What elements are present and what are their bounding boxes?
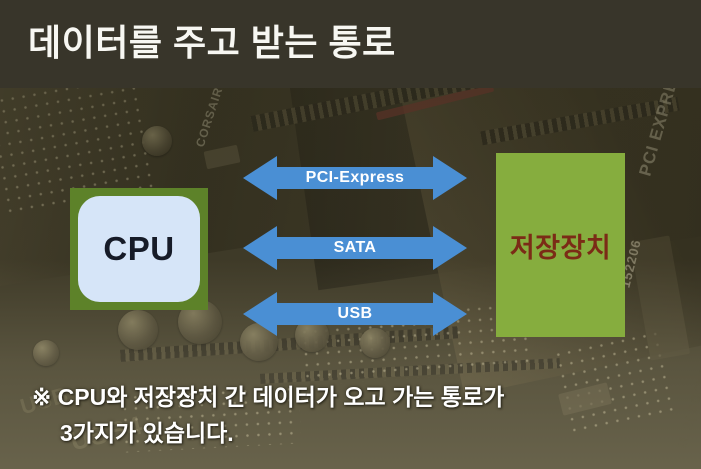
storage-node-label: 저장장치 [510, 226, 611, 265]
double-arrow-icon [243, 291, 467, 337]
cpu-node: CPU [70, 188, 208, 310]
cpu-node-label: CPU [103, 230, 174, 268]
title-bar: 데이터를 주고 받는 통로 [0, 0, 701, 88]
caption-block: ※ CPU와 저장장치 간 데이터가 오고 가는 통로가 3가지가 있습니다. [0, 370, 701, 469]
connection-arrow-sata: SATA [243, 225, 467, 271]
double-arrow-icon [243, 225, 467, 271]
caption-line-2: 3가지가 있습니다. [60, 414, 234, 448]
caption-line-1: ※ CPU와 저장장치 간 데이터가 오고 가는 통로가 [32, 378, 504, 412]
connection-arrow-usb: USB [243, 291, 467, 337]
storage-node: 저장장치 [496, 153, 625, 337]
connection-arrow-pci-express: PCI-Express [243, 155, 467, 201]
double-arrow-icon [243, 155, 467, 201]
page-title: 데이터를 주고 받는 통로 [28, 14, 396, 66]
slide-root: CORSAIR PCI EXPRESS 152206 M. 2( SOCKET3… [0, 0, 701, 469]
cpu-node-inner: CPU [78, 196, 200, 302]
